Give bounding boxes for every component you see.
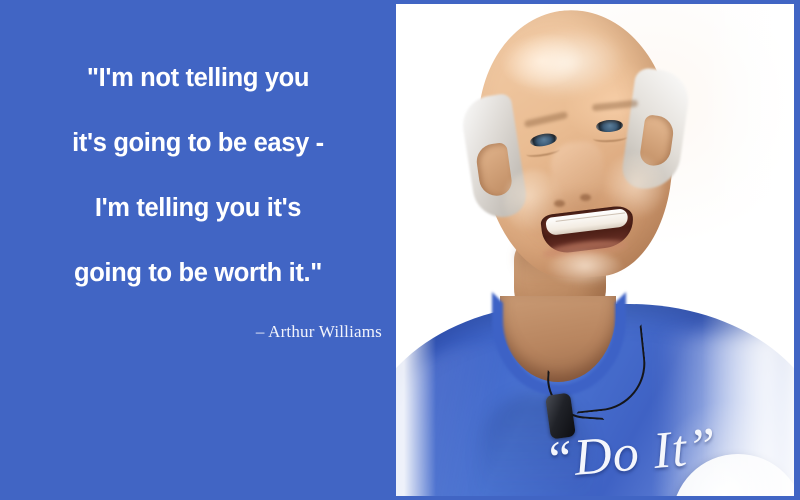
quote-panel: "I'm not telling you it's going to be ea… (0, 0, 396, 500)
quote-attribution: – Arthur Williams (0, 322, 396, 342)
quote-card: "I'm not telling you it's going to be ea… (0, 0, 800, 500)
photo-panel: “Do It” (396, 0, 800, 500)
chin-highlight (546, 252, 624, 286)
portrait-photo: “Do It” (396, 4, 794, 496)
person-figure: “Do It” (396, 4, 794, 496)
forehead-highlight (503, 22, 630, 104)
quote-line-1: "I'm not telling you (0, 46, 396, 111)
quote-line-4: going to be worth it." (0, 241, 396, 306)
quote-line-3: I'm telling you it's (0, 176, 396, 241)
quote-text-block: "I'm not telling you it's going to be ea… (0, 46, 396, 306)
teeth-gap-line (556, 212, 626, 222)
quote-line-2: it's going to be easy - (0, 111, 396, 176)
